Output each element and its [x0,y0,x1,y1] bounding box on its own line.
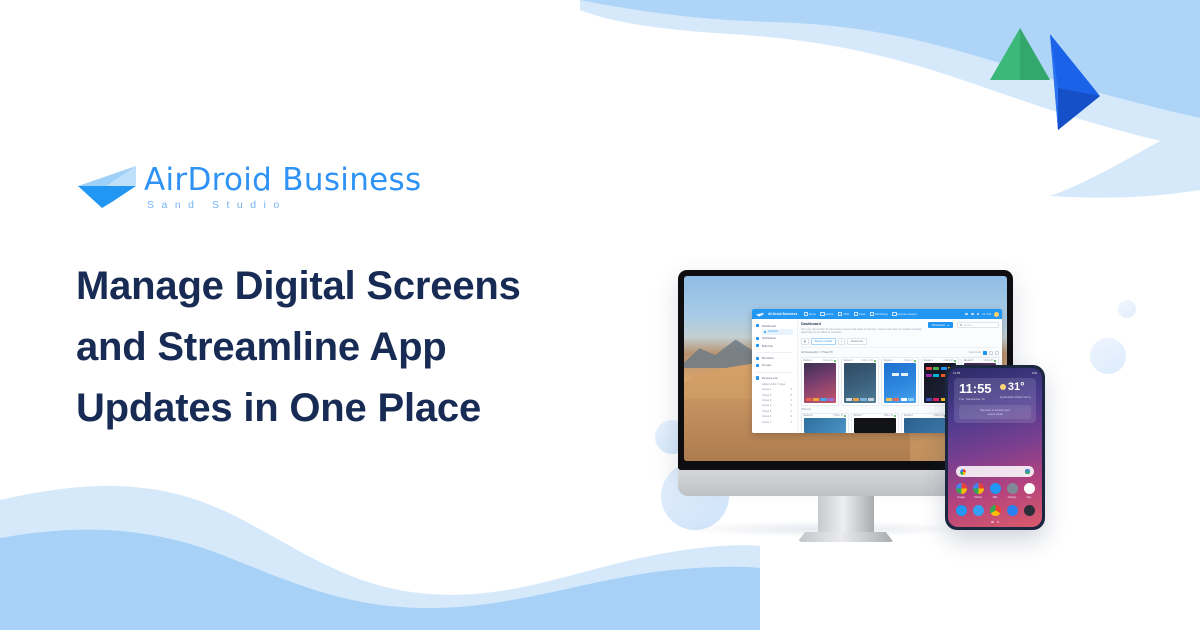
poster-canvas: AirDroid Business Sand Studio Manage Dig… [0,0,1200,630]
device-status: Offline 6h [883,415,896,417]
view-compact-icon[interactable] [995,351,999,355]
contacts-icon[interactable] [1007,505,1018,516]
bell-icon[interactable] [971,313,974,316]
device-screen-preview [804,418,847,433]
device-name: Device 6 [804,415,813,417]
device-card[interactable]: Device 8 Offline 1d [901,413,949,433]
device-status: Online 2h [944,360,957,362]
sidebar-subitem-label: Devices [768,330,778,333]
paper-plane-icon [72,162,138,214]
app-label: Photos [974,496,981,499]
device-name: Device 5 [964,360,973,362]
members-icon [756,357,759,360]
tab-device-list[interactable]: Device list [847,338,867,345]
status-time: 11:55 [953,371,960,375]
phone-status-bar: 11:55 LTE [948,368,1042,375]
sidebar-item-notification[interactable]: Notification [752,335,797,342]
sidebar-item-label: Notification [762,336,776,340]
clock-date: Tue, September 13 [959,397,992,401]
dashboard-icon [756,324,759,327]
photos-icon [973,483,984,494]
device-screen-preview [884,363,917,403]
monitor-stand-foot [798,532,894,542]
smartphone: 11:55 LTE 11:55 Tue, September 13 31° [945,365,1045,530]
device-card[interactable]: Device 2 Online 18m [841,357,879,405]
device-name: Device 1 [804,360,813,362]
page-title: Manage Digital Screens and Streamline Ap… [76,256,616,438]
device-card[interactable]: Device 7 Offline 6h [851,413,899,433]
monitor-stand-neck [818,496,874,534]
dashboard-topbar: AirDroid Business Home Device AMS Kiosk … [752,309,1002,319]
devices-list-icon [756,376,759,379]
camera-icon[interactable] [1024,505,1035,516]
app-label: Play [1027,496,1032,499]
phone-icon[interactable] [956,505,967,516]
sidebar-divider [756,372,793,373]
clock-weather-widget[interactable]: 11:55 Tue, September 13 31° Hyderabad, P… [954,378,1036,423]
mail-icon [990,483,1001,494]
sidebar-item-label: Bulk File [762,344,773,348]
view-mode-label: View mode [969,351,981,354]
headline-line-1: Manage Digital Screens [76,256,616,317]
messages-icon[interactable] [973,505,984,516]
sidebar-item-label: Devices List [762,376,778,380]
chrome-icon[interactable] [990,505,1001,516]
app-icon-photos[interactable]: Photos [971,483,985,499]
dashboard-logo-icon [755,312,764,317]
nav-item-kiosk[interactable]: Kiosk [854,312,866,316]
widget-note-line-2: recent cards [962,412,1028,416]
device-card[interactable]: Device 6 Offline 4h [801,413,849,433]
blue-triangle-icon [1050,34,1100,130]
globe-icon[interactable] [977,313,980,316]
groups-icon [756,364,759,367]
phone-page-indicator [948,521,1042,528]
dashboard-page-title: Dashboard [801,322,924,326]
device-status: Online 1h [903,360,916,362]
brand-title: AirDroid Business [144,165,421,196]
gear-icon [1007,483,1018,494]
brand-subtitle: Sand Studio [147,200,421,211]
sidebar-item-dashboard[interactable]: Dashboard [752,322,797,329]
tab-close-icon[interactable]: × [838,338,845,345]
nav-item-remote-support[interactable]: Remote support [892,312,916,316]
avatar[interactable] [994,312,999,317]
search-input[interactable]: Search [957,322,999,328]
sidebar-item-bulk-file[interactable]: Bulk File [752,342,797,349]
section-header: All Devices(12) · 5 Total: 65 View mode [801,351,999,355]
google-icon [956,483,967,494]
sidebar-item-label: Members [762,356,774,360]
nav-item-ams[interactable]: AMS [838,312,849,316]
device-screen-preview [804,363,837,403]
nav-item-device[interactable]: Device [820,312,833,316]
section-label: All Devices(12) · 5 Total: 65 [801,351,833,354]
device-status: Offline 4h [833,415,846,417]
notification-icon [756,337,759,340]
microphone-icon[interactable] [1025,469,1030,474]
wave-bottom-left [0,460,760,630]
sidebar-item-label: Dashboard [762,324,776,328]
bulk-file-icon [756,344,759,347]
device-card[interactable]: Device 1 Online 3m [801,357,839,405]
trial-badge: 21 Trial [982,313,991,316]
dashboard-header-row: Dashboard Here you can monitor all your … [801,322,999,335]
app-label: Settings [1008,496,1017,499]
device-screen-preview [854,418,897,433]
all-devices-button[interactable]: All Devices [928,322,953,328]
sidebar-item-groups[interactable]: Groups [752,362,797,369]
phone-dock [948,505,1042,516]
device-status: Online 18m [861,360,876,362]
device-status: Online 5h [984,360,997,362]
weather-sun-icon [1000,384,1006,390]
dashboard-tabs[interactable]: ▦ Screen monitor × Device list [801,338,999,348]
sidebar-item-members[interactable]: Members [752,355,797,362]
status-network: LTE [1032,371,1037,375]
device-name: Device 2 [844,360,853,362]
device-screen-preview [904,418,947,433]
device-card[interactable]: Device 3 Online 1h [881,357,919,405]
headline-line-3: Updates in One Place [76,378,616,439]
phone-screen: 11:55 LTE 11:55 Tue, September 13 31° [948,368,1042,527]
phone-app-row: Google Photos Mail Settings [948,483,1042,499]
weather-temperature: 31° [1008,382,1025,393]
clock-time: 11:55 [959,382,992,395]
sidebar-item-label: Groups [762,363,771,367]
device-status: Online 3m [823,360,836,362]
dashboard-topbar-right[interactable]: 21 Trial [965,312,999,317]
weather-condition: Hyderabad, Partly Sunny [1000,395,1031,399]
nav-item-home[interactable]: Home [804,312,816,316]
app-icon-google[interactable]: Google [954,483,968,499]
tab-screen-monitor[interactable]: Screen monitor [811,338,837,345]
view-grid-icon[interactable] [983,351,987,355]
tab-grid-view-icon[interactable]: ▦ [801,338,809,345]
device-screen-preview [844,363,877,403]
device-name: Device 7 [854,415,863,417]
nav-item-monitoring[interactable]: Monitoring [870,312,888,316]
sidebar-divider [756,352,793,353]
device-name: Device 3 [884,360,893,362]
app-label: Google [957,496,965,499]
app-icon-mail[interactable]: Mail [988,483,1002,499]
devices-icon [764,331,766,333]
device-mockup-group: AirDroid Business Home Device AMS Kiosk … [660,255,1140,555]
google-icon [960,469,966,475]
dashboard-description: Here you can monitor all your device scr… [801,328,924,336]
search-placeholder: Search [964,324,972,327]
help-icon[interactable] [965,313,968,316]
app-icon-play[interactable]: Play [1022,483,1036,499]
device-name: Device 4 [924,360,933,362]
phone-search-bar[interactable] [956,466,1034,477]
widget-note[interactable]: Tap here to access your recent cards [959,405,1031,419]
headline-line-2: and Streamline App [76,317,616,378]
dashboard-sidebar: Dashboard Devices Notification [752,319,798,433]
device-name: Device 8 [904,415,913,417]
sidebar-group-item[interactable]: Group 7 4 [752,419,797,424]
play-store-icon [1024,483,1035,494]
dashboard-nav[interactable]: Home Device AMS Kiosk Monitoring Remote … [804,312,966,316]
app-label: Mail [993,496,997,499]
brand-logo[interactable]: AirDroid Business Sand Studio [72,162,421,214]
green-triangle-icon [990,28,1050,80]
decorative-triangles [980,18,1160,143]
dashboard-brand: AirDroid Business [768,312,798,316]
search-icon [960,324,962,326]
view-mode-switch[interactable]: View mode [969,351,999,355]
view-list-icon[interactable] [989,351,993,355]
app-icon-settings[interactable]: Settings [1005,483,1019,499]
sidebar-item-devices-list[interactable]: Devices List [752,375,797,382]
